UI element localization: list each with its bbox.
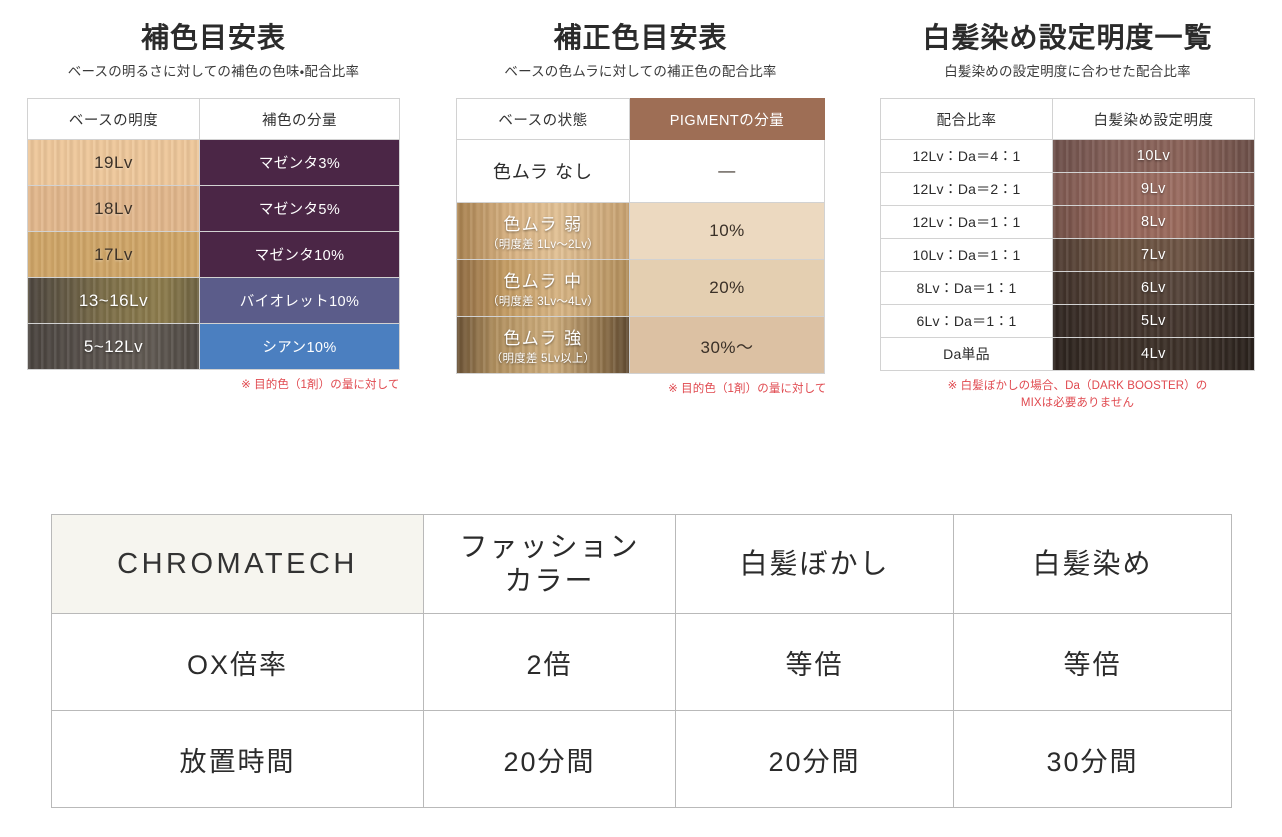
target-level-label: 7Lv — [1141, 247, 1166, 263]
hair-swatch-cell: 13~16Lv — [28, 278, 200, 324]
base-state-label: 色ムラ 中 （明度差 3Lv〜4Lv） — [457, 267, 629, 309]
ox-ratio-shiraga-zome: 等倍 — [954, 614, 1232, 711]
table-row: 12Lv：Da＝1：1 8Lv — [881, 206, 1255, 239]
panel-3-subtitle: 白髪染めの設定明度に合わせた配合比率 — [944, 60, 1191, 80]
pigment-amount-label: シアン10% — [262, 340, 336, 356]
table-row: 6Lv：Da＝1：1 5Lv — [881, 305, 1255, 338]
column-header-base-level: ベースの明度 — [28, 99, 200, 140]
table-row: 13~16Lv バイオレット10% — [28, 278, 400, 324]
table-row: 色ムラ 弱 （明度差 1Lv〜2Lv） 10% — [457, 203, 825, 260]
pigment-amount-cell: マゼンタ10% — [200, 232, 400, 278]
mix-ratio-cell: 12Lv：Da＝2：1 — [881, 173, 1053, 206]
ox-ratio-shiraga-bokashi: 等倍 — [676, 614, 954, 711]
pigment-amount-label: マゼンタ3% — [259, 156, 340, 172]
top-panels: 補色目安表 ベースの明るさに対しての補色の色味・配合比率 ベースの明度 補色の分… — [0, 0, 1282, 412]
mix-ratio-cell: 6Lv：Da＝1：1 — [881, 305, 1053, 338]
base-state-cell: 色ムラ なし — [457, 140, 630, 203]
table-row: 17Lv マゼンタ10% — [28, 232, 400, 278]
table-header-row: 配合比率 白髪染め設定明度 — [881, 99, 1255, 140]
ox-ratio-fashion-color: 2倍 — [424, 614, 676, 711]
base-level-label: 5~12Lv — [84, 337, 143, 356]
table-row: 12Lv：Da＝4：1 10Lv — [881, 140, 1255, 173]
column-header-target-level: 白髪染め設定明度 — [1053, 99, 1255, 140]
table-row: 色ムラ なし — — [457, 140, 825, 203]
panel-1-subtitle: ベースの明るさに対しての補色の色味・配合比率 — [68, 60, 359, 80]
hair-swatch-cell: 10Lv — [1053, 140, 1255, 173]
base-state-sub: （明度差 3Lv〜4Lv） — [457, 293, 629, 309]
pigment-amount-label: 20% — [709, 278, 745, 297]
mix-ratio-cell: 12Lv：Da＝4：1 — [881, 140, 1053, 173]
processing-time-fashion-color: 20分間 — [424, 711, 676, 808]
column-header-fashion-color-line1: ファッション — [459, 531, 639, 562]
mix-ratio-cell: 12Lv：Da＝1：1 — [881, 206, 1053, 239]
base-level-label: 13~16Lv — [79, 291, 148, 310]
panel-1-note: ※ 目的色（1剤）の量に対して — [28, 377, 400, 394]
panel-3-note-line2: MIXは必要ありません — [901, 395, 1255, 412]
table-shiragazome: 配合比率 白髪染め設定明度 12Lv：Da＝4：1 10Lv 12Lv：Da＝2… — [880, 98, 1255, 371]
summary-table-wrapper: CHROMATECH ファッション カラー 白髪ぼかし 白髪染め OX倍率 2倍… — [51, 514, 1231, 808]
hair-swatch-cell: 6Lv — [1053, 272, 1255, 305]
panel-3-note-line1: ※ 白髪ぼかしの場合、Da（DARK BOOSTER）の — [948, 380, 1208, 392]
table-row: 19Lv マゼンタ3% — [28, 140, 400, 186]
base-state-title: 色ムラ 弱 — [457, 210, 629, 235]
hair-swatch-cell: 18Lv — [28, 186, 200, 232]
hair-swatch-cell: 17Lv — [28, 232, 200, 278]
panel-3-note: ※ 白髪ぼかしの場合、Da（DARK BOOSTER）の MIXは必要ありません — [881, 378, 1255, 411]
base-level-label: 19Lv — [94, 153, 133, 172]
row-label-ox-ratio: OX倍率 — [52, 614, 424, 711]
table-row: 色ムラ 強 （明度差 5Lv以上） 30%〜 — [457, 317, 825, 374]
column-header-pigment-amount: 補色の分量 — [200, 99, 400, 140]
hair-swatch-cell: 9Lv — [1053, 173, 1255, 206]
table-hoshoku: ベースの明度 補色の分量 19Lv マゼンタ3% 18Lv マゼンタ5% — [27, 98, 400, 370]
mix-ratio-cell: Da単品 — [881, 338, 1053, 371]
panel-3-title: 白髪染め設定明度一覧 — [922, 22, 1212, 54]
table-hoseishoku: ベースの状態 PIGMENTの分量 色ムラ なし — 色ムラ 弱 （明度差 1L… — [456, 98, 825, 374]
processing-time-shiraga-zome: 30分間 — [954, 711, 1232, 808]
processing-time-shiraga-bokashi: 20分間 — [676, 711, 954, 808]
summary-row-ox: OX倍率 2倍 等倍 等倍 — [52, 614, 1232, 711]
hair-swatch-cell: 色ムラ 弱 （明度差 1Lv〜2Lv） — [457, 203, 630, 260]
column-header-fashion-color-line2: カラー — [504, 565, 594, 596]
target-level-label: 6Lv — [1141, 280, 1166, 296]
base-state-title: 色ムラ 中 — [457, 267, 629, 292]
column-header-shiraga-zome: 白髪染め — [954, 515, 1232, 614]
mix-ratio-cell: 10Lv：Da＝1：1 — [881, 239, 1053, 272]
pigment-amount-label: — — [718, 161, 736, 180]
column-header-base-state: ベースの状態 — [457, 99, 630, 140]
hair-swatch-cell: 色ムラ 強 （明度差 5Lv以上） — [457, 317, 630, 374]
pigment-amount-cell: — — [630, 140, 825, 203]
hair-swatch-cell: 5~12Lv — [28, 324, 200, 370]
brand-name-cell: CHROMATECH — [52, 515, 424, 614]
summary-row-processing-time: 放置時間 20分間 20分間 30分間 — [52, 711, 1232, 808]
base-level-label: 17Lv — [94, 245, 133, 264]
table-row: 12Lv：Da＝2：1 9Lv — [881, 173, 1255, 206]
base-level-label: 18Lv — [94, 199, 133, 218]
hair-swatch-cell: 7Lv — [1053, 239, 1255, 272]
pigment-amount-label: 10% — [709, 221, 745, 240]
pigment-amount-label: マゼンタ10% — [255, 248, 345, 264]
table-row: 8Lv：Da＝1：1 6Lv — [881, 272, 1255, 305]
panel-2-subtitle: ベースの色ムラに対しての補正色の配合比率 — [504, 60, 776, 80]
table-row: Da単品 4Lv — [881, 338, 1255, 371]
hair-swatch-cell: 色ムラ 中 （明度差 3Lv〜4Lv） — [457, 260, 630, 317]
base-state-label: 色ムラ なし — [493, 162, 593, 182]
target-level-label: 4Lv — [1141, 346, 1166, 362]
mix-ratio-cell: 8Lv：Da＝1：1 — [881, 272, 1053, 305]
target-level-label: 5Lv — [1141, 313, 1166, 329]
column-header-shiraga-bokashi: 白髪ぼかし — [676, 515, 954, 614]
hair-swatch-cell: 5Lv — [1053, 305, 1255, 338]
pigment-amount-cell: マゼンタ5% — [200, 186, 400, 232]
base-state-sub: （明度差 1Lv〜2Lv） — [457, 236, 629, 252]
row-label-processing-time: 放置時間 — [52, 711, 424, 808]
column-header-pigment-amount: PIGMENTの分量 — [630, 99, 825, 140]
panel-1-title: 補色目安表 — [141, 22, 286, 54]
column-header-fashion-color: ファッション カラー — [424, 515, 676, 614]
base-state-title: 色ムラ 強 — [457, 324, 629, 349]
table-row: 10Lv：Da＝1：1 7Lv — [881, 239, 1255, 272]
panel-hoshoku: 補色目安表 ベースの明るさに対しての補色の色味・配合比率 ベースの明度 補色の分… — [0, 22, 427, 412]
target-level-label: 8Lv — [1141, 214, 1166, 230]
pigment-amount-cell: シアン10% — [200, 324, 400, 370]
base-state-label: 色ムラ 弱 （明度差 1Lv〜2Lv） — [457, 210, 629, 252]
panel-2-note: ※ 目的色（1剤）の量に対して — [455, 381, 827, 398]
base-state-label: 色ムラ 強 （明度差 5Lv以上） — [457, 324, 629, 366]
table-header-row: ベースの明度 補色の分量 — [28, 99, 400, 140]
pigment-amount-label: マゼンタ5% — [259, 202, 340, 218]
table-row: 5~12Lv シアン10% — [28, 324, 400, 370]
pigment-amount-cell: バイオレット10% — [200, 278, 400, 324]
hair-swatch-cell: 8Lv — [1053, 206, 1255, 239]
pigment-amount-cell: 20% — [630, 260, 825, 317]
table-summary: CHROMATECH ファッション カラー 白髪ぼかし 白髪染め OX倍率 2倍… — [51, 514, 1232, 808]
hair-swatch-cell: 19Lv — [28, 140, 200, 186]
panel-shiragazome: 白髪染め設定明度一覧 白髪染めの設定明度に合わせた配合比率 配合比率 白髪染め設… — [854, 22, 1281, 412]
pigment-amount-cell: 30%〜 — [630, 317, 825, 374]
panel-2-title: 補正色目安表 — [553, 22, 727, 54]
pigment-amount-label: バイオレット10% — [240, 294, 360, 310]
table-header-row: ベースの状態 PIGMENTの分量 — [457, 99, 825, 140]
target-level-label: 10Lv — [1137, 148, 1170, 164]
target-level-label: 9Lv — [1141, 181, 1166, 197]
base-state-sub: （明度差 5Lv以上） — [457, 350, 629, 366]
pigment-amount-cell: 10% — [630, 203, 825, 260]
panel-hoseishoku: 補正色目安表 ベースの色ムラに対しての補正色の配合比率 ベースの状態 PIGME… — [427, 22, 854, 412]
pigment-amount-cell: マゼンタ3% — [200, 140, 400, 186]
summary-header-row: CHROMATECH ファッション カラー 白髪ぼかし 白髪染め — [52, 515, 1232, 614]
column-header-ratio: 配合比率 — [881, 99, 1053, 140]
table-row: 色ムラ 中 （明度差 3Lv〜4Lv） 20% — [457, 260, 825, 317]
pigment-amount-label: 30%〜 — [700, 338, 753, 357]
hair-swatch-cell: 4Lv — [1053, 338, 1255, 371]
table-row: 18Lv マゼンタ5% — [28, 186, 400, 232]
